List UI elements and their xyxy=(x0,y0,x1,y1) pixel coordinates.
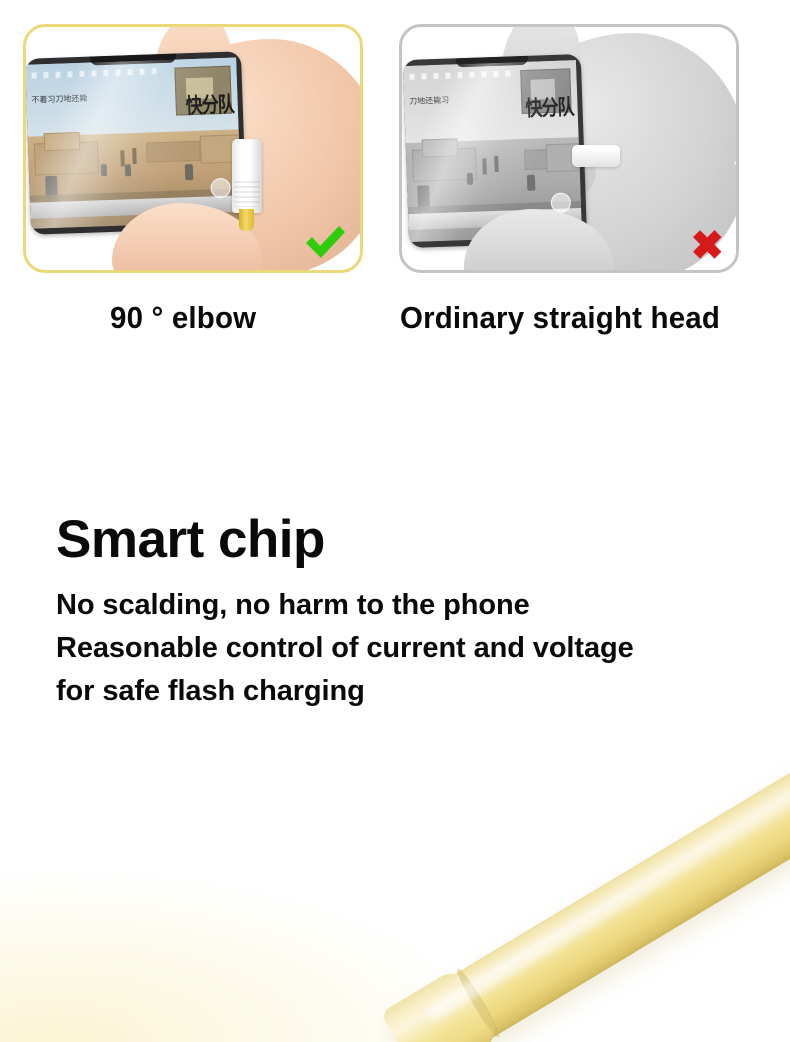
feature-description: No scalding, no harm to the phone Reason… xyxy=(56,584,756,713)
comparison-captions: 90 ° elbow Ordinary straight head xyxy=(0,300,790,346)
feature-title: Smart chip xyxy=(56,512,756,568)
adapter-body xyxy=(232,139,262,213)
check-mark-icon xyxy=(302,222,348,262)
feature-line: Reasonable control of current and voltag… xyxy=(56,627,756,670)
caption-good: 90 ° elbow xyxy=(110,300,256,336)
caption-bad: Ordinary straight head xyxy=(400,300,720,336)
adapter-yellow-cable xyxy=(239,209,254,231)
verdict-bad: ✖ xyxy=(690,226,724,266)
feature-block: Smart chip No scalding, no harm to the p… xyxy=(56,512,756,713)
feature-line: No scalding, no harm to the phone xyxy=(56,584,756,627)
phone-screen: 不着习刀地还毙 快分队 xyxy=(26,57,242,228)
comparison-card-good[interactable]: 不着习刀地还毙 快分队 xyxy=(23,24,363,273)
comparison-row: 不着习刀地还毙 快分队 xyxy=(0,0,790,290)
verdict-good xyxy=(302,222,348,266)
straight-cable-plug xyxy=(572,145,620,167)
screen-glare xyxy=(26,57,242,228)
cross-mark-icon: ✖ xyxy=(690,226,724,266)
comparison-card-bad[interactable]: 刀地还毙习 快分队 ✖ xyxy=(399,24,739,273)
elbow-adapter xyxy=(232,139,262,227)
photo-straight-cable: 刀地还毙习 快分队 xyxy=(402,27,736,270)
product-cable-photo xyxy=(0,760,790,1042)
feature-line: for safe flash charging xyxy=(56,670,756,713)
